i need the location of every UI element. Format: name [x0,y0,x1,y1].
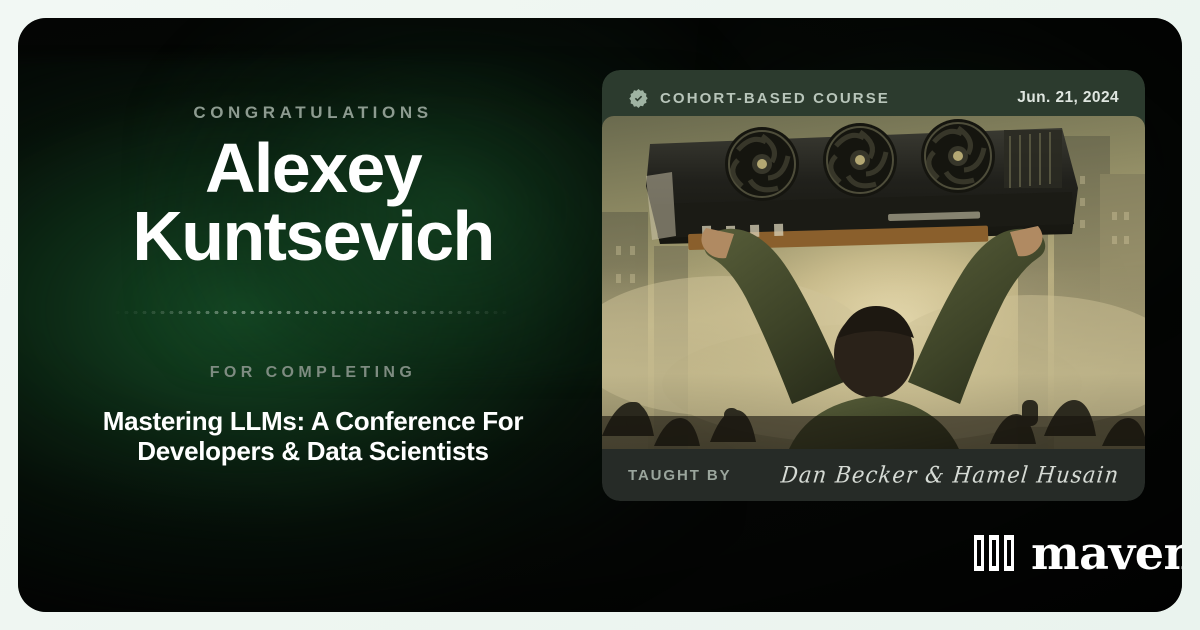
for-completing-label: FOR COMPLETING [210,364,416,382]
course-card-footer: TAUGHT BY Dan Becker & Hamel Husain [602,449,1145,501]
maven-pillars-icon [973,533,1015,573]
verified-badge-icon [628,88,649,109]
dotted-divider [113,311,513,314]
course-date: Jun. 21, 2024 [1017,89,1119,107]
taught-by-label: TAUGHT BY [628,467,731,484]
certificate-card: CONGRATULATIONS Alexey Kuntsevich FOR CO… [18,18,1182,612]
certificate-text-column: CONGRATULATIONS Alexey Kuntsevich FOR CO… [18,18,608,612]
recipient-name: Alexey Kuntsevich [43,135,583,271]
course-hero-image [602,116,1145,462]
congratulations-label: CONGRATULATIONS [193,103,432,123]
course-type-label: COHORT-BASED COURSE [660,90,890,107]
maven-wordmark: maven [1031,530,1182,576]
certificate-page: CONGRATULATIONS Alexey Kuntsevich FOR CO… [0,0,1200,630]
maven-logo: maven [973,530,1182,576]
course-title: Mastering LLMs: A Conference For Develop… [63,406,563,467]
instructor-signature: Dan Becker & Hamel Husain [779,462,1120,488]
course-preview-card[interactable]: COHORT-BASED COURSE Jun. 21, 2024 [602,70,1145,501]
